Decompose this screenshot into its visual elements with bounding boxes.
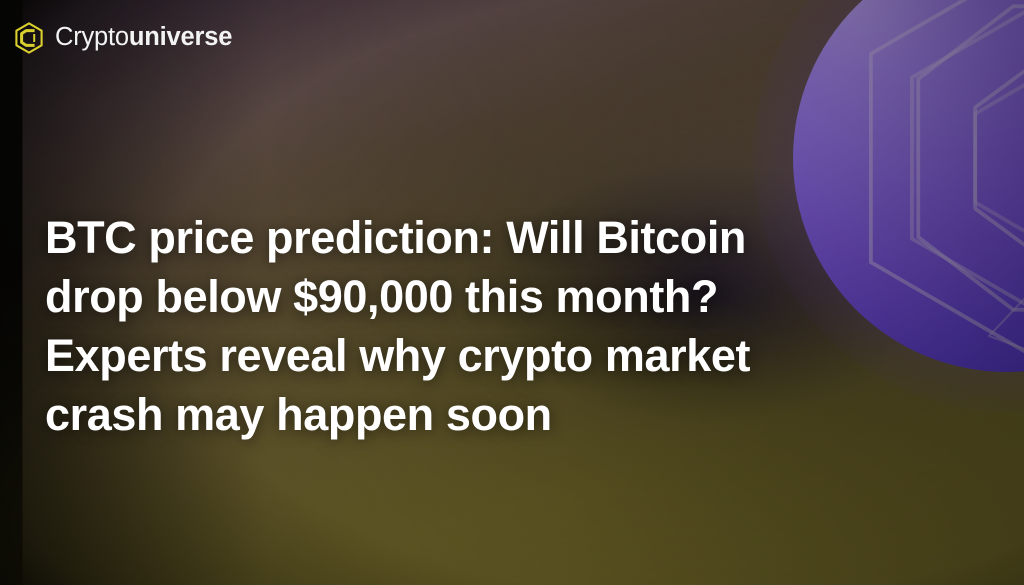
brand-wordmark: Cryptouniverse bbox=[55, 25, 232, 51]
brand-logo[interactable]: Cryptouniverse bbox=[12, 21, 232, 55]
brand-wordmark-bold: universe bbox=[129, 23, 232, 51]
headline-line-4: crash may happen soon bbox=[45, 385, 925, 444]
headline-line-3: Experts reveal why crypto market bbox=[45, 326, 925, 385]
headline-line-2: drop below $90,000 this month? bbox=[45, 267, 925, 326]
hexagon-c-logo-icon bbox=[12, 21, 46, 55]
crypto-news-banner: Cryptouniverse BTC price prediction: Wil… bbox=[0, 0, 1024, 585]
brand-wordmark-light: Crypto bbox=[55, 23, 129, 51]
headline-line-1: BTC price prediction: Will Bitcoin bbox=[45, 208, 925, 267]
page-title: BTC price prediction: Will Bitcoin drop … bbox=[45, 208, 925, 444]
